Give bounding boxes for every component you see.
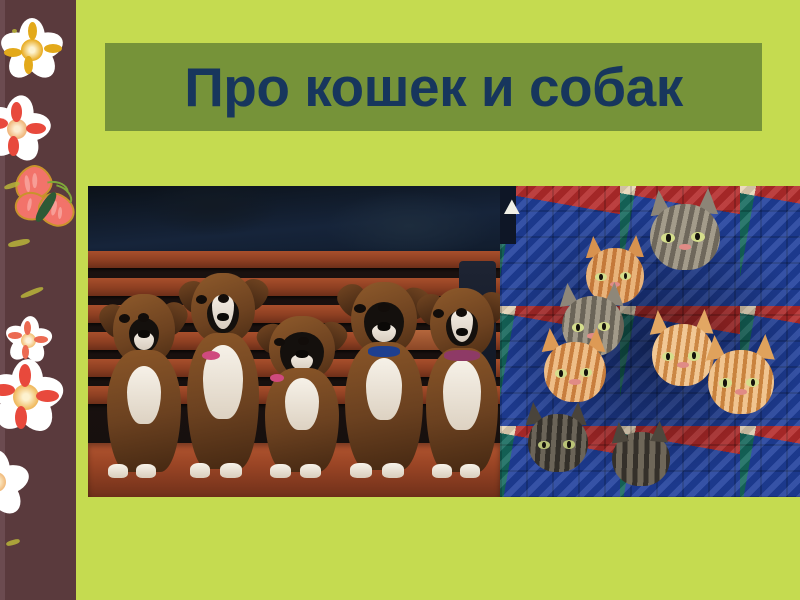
puppy <box>102 288 186 478</box>
slide-title-box: Про кошек и собак <box>105 43 762 131</box>
page-title: Про кошек и собак <box>184 60 683 115</box>
puppy <box>418 286 500 478</box>
photo-strip <box>88 186 800 497</box>
puppy <box>180 273 266 478</box>
kitten <box>544 342 606 402</box>
sparkle-icon <box>6 538 21 547</box>
kitten <box>652 324 714 386</box>
flower-icon <box>0 22 68 94</box>
flower-icon <box>0 452 34 528</box>
kitten <box>528 414 588 472</box>
kitten <box>650 204 720 270</box>
slide-canvas: Про кошек и собак <box>0 0 800 600</box>
kitten <box>612 432 670 486</box>
decorative-sidebar <box>0 0 76 600</box>
sparkle-icon <box>12 29 17 33</box>
sparkle-icon <box>20 286 44 300</box>
kitten <box>708 350 774 414</box>
photo-kittens[interactable] <box>500 186 800 497</box>
flower-icon <box>0 362 70 450</box>
photo-boxer-puppies[interactable] <box>88 186 500 497</box>
puppy <box>258 310 346 478</box>
